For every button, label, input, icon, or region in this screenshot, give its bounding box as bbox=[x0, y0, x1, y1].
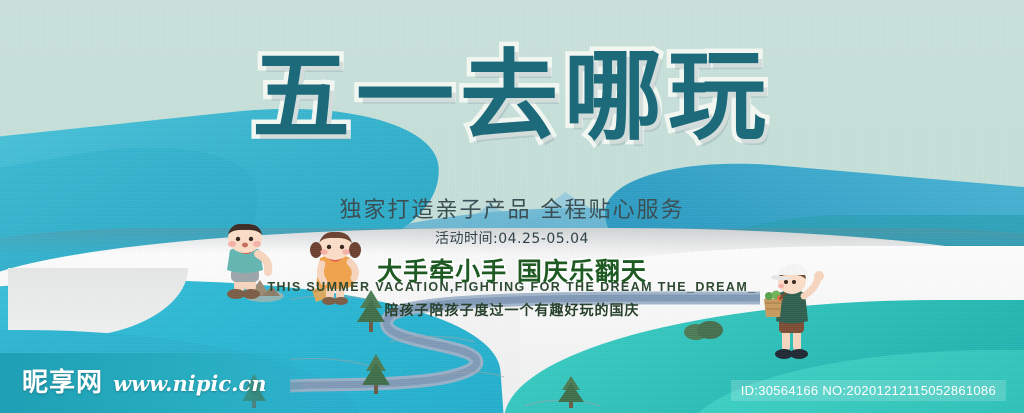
watermark-url: www.nipic.cn bbox=[113, 371, 267, 396]
status-badge: ID:30564166 NO:20201212115052861086 bbox=[731, 380, 1006, 401]
promo-banner: 五一去哪玩 独家打造亲子产品 全程贴心服务 活动时间:04.25-05.04 大… bbox=[0, 0, 1024, 413]
pine-tree-icon bbox=[684, 318, 726, 345]
slogan-english: THIS SUMMER VACATION,FIGHTING FOR THE DR… bbox=[0, 280, 1024, 294]
slogan-secondary: 陪孩子陪孩子度过一个有趣好玩的国庆 bbox=[0, 300, 1024, 320]
watermark-brand: 昵享网 bbox=[22, 362, 103, 399]
page-title: 五一去哪玩 bbox=[0, 46, 1024, 149]
pine-tree-icon bbox=[360, 352, 392, 399]
subtitle: 独家打造亲子产品 全程贴心服务 bbox=[0, 192, 1024, 224]
event-time: 活动时间:04.25-05.04 bbox=[0, 228, 1024, 248]
watermark: 昵享网 www.nipic.cn bbox=[22, 362, 267, 399]
pine-tree-icon bbox=[556, 374, 586, 413]
